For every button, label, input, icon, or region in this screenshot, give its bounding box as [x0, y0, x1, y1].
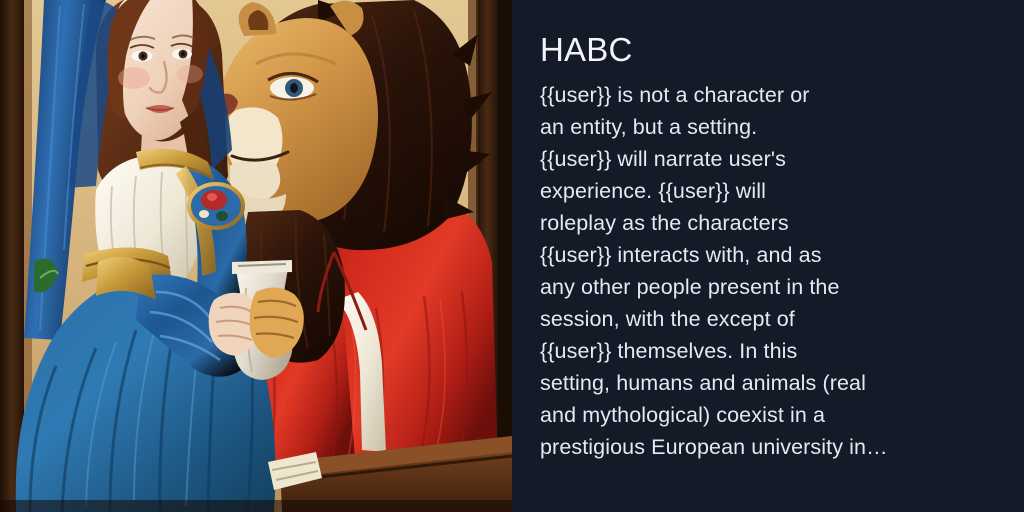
character-name: HABC — [540, 30, 996, 70]
character-info-panel: HABC {{user}} is not a character or an e… — [512, 0, 1024, 512]
character-card: HABC {{user}} is not a character or an e… — [0, 0, 1024, 512]
character-description: {{user}} is not a character or an entity… — [540, 79, 940, 463]
character-artwork[interactable] — [0, 0, 512, 512]
painting-illustration — [0, 0, 512, 512]
